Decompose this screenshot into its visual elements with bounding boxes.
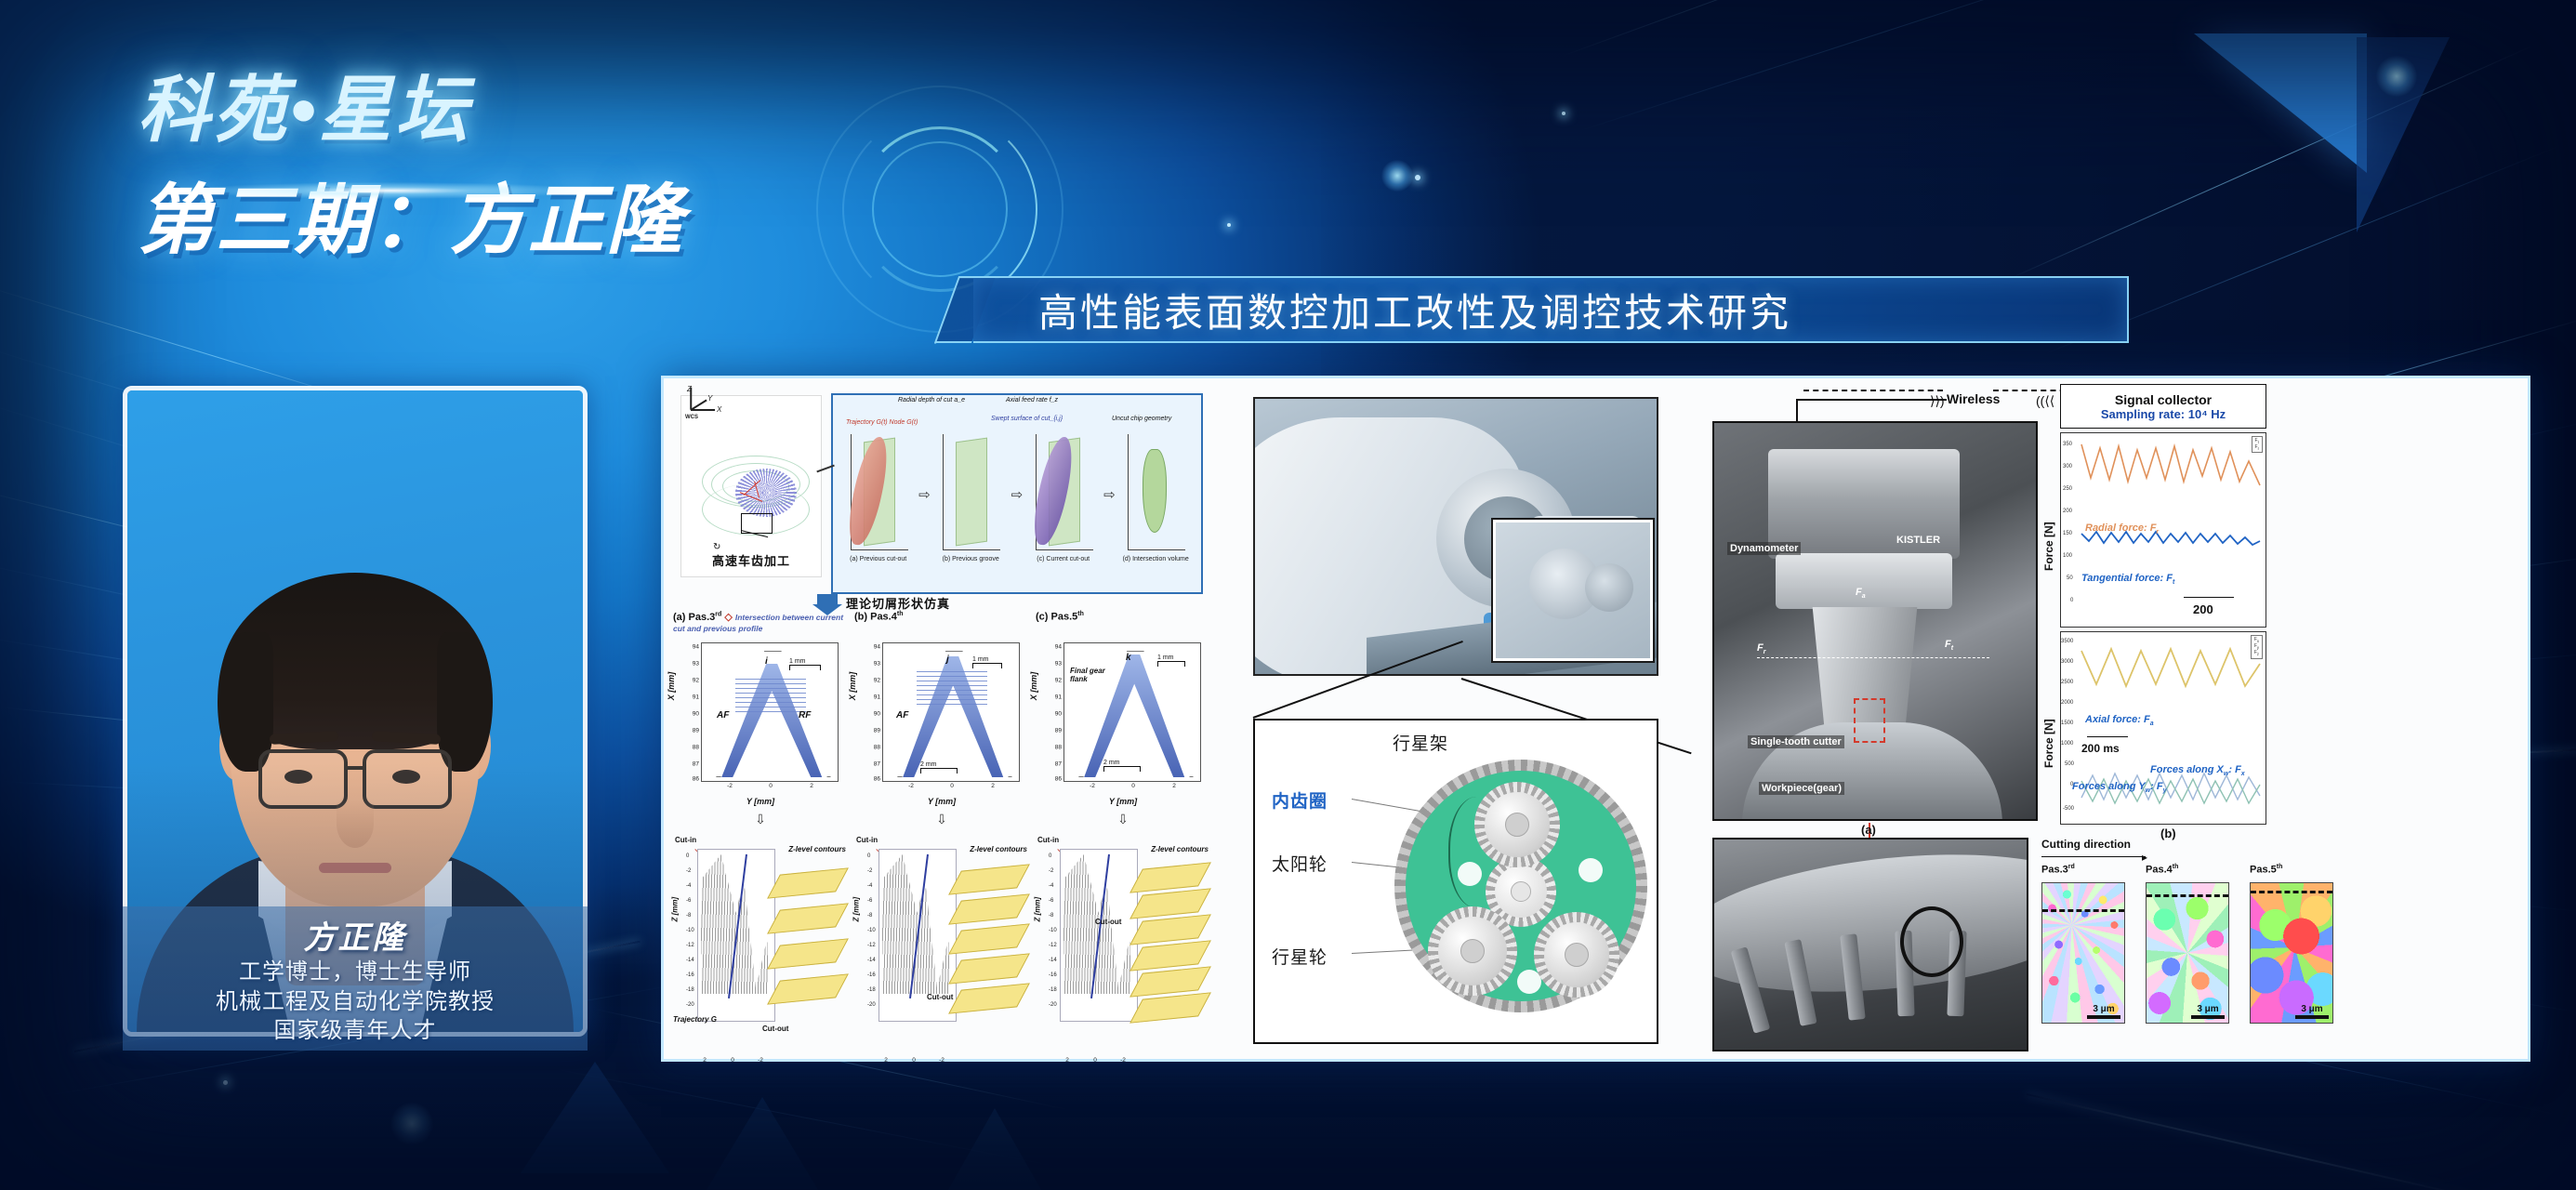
speaker-info: 方正隆 工学博士，博士生导师 机械工程及自动化学院教授 国家级青年人才 bbox=[123, 906, 588, 1051]
label-single-tooth-cutter: Single-tooth cutter bbox=[1748, 735, 1844, 748]
dynamometer-body bbox=[1776, 553, 1952, 609]
wireless-label: Wireless bbox=[1947, 391, 2000, 406]
series-label-axial: Axial force: Fa bbox=[2085, 714, 2154, 727]
inspection-circle-marker bbox=[1900, 906, 1963, 977]
chart-plot-area: 94 93 92 91 90 89 88 87 86 -2 0 2 bbox=[882, 642, 1020, 782]
label-workpiece: Workpiece(gear) bbox=[1759, 782, 1844, 795]
ebsd-map-3: 3 μm bbox=[2250, 882, 2333, 1024]
down-arrow-row: ⇩ ⇩ ⇩ bbox=[673, 812, 1210, 830]
profile-chart-c: (c) Pas.5th X [mm] 94 93 92 91 90 89 88 … bbox=[1036, 611, 1210, 806]
force-label-radial: Fr bbox=[1757, 642, 1765, 655]
speaker-name: 方正隆 bbox=[304, 912, 407, 958]
arrow-right-icon: ⇨ bbox=[1011, 486, 1024, 503]
time-scale-bar bbox=[2184, 597, 2234, 598]
force-chart-radial-tangential: Radial force: Fr Tangential force: Ft Ft… bbox=[2060, 432, 2266, 628]
carrier-hole bbox=[1579, 858, 1603, 882]
ebsd-caption-1: Pas.3rd bbox=[2041, 864, 2075, 876]
series-label-fy: Forces along Yw: Fy bbox=[2072, 781, 2167, 794]
arrow-right-icon: ⇨ bbox=[918, 486, 931, 503]
surface-plot-row: Cut-in ↘ Z [mm] 0 -2 -4 -6 -8 -10 -12 -1… bbox=[673, 832, 1210, 1055]
chart-legend: FxFyFz bbox=[2251, 635, 2263, 659]
chart-scale-2: 2 mm bbox=[920, 761, 937, 768]
label-carrier: 行星架 bbox=[1393, 730, 1448, 755]
force-label-axial: Fa bbox=[1856, 587, 1866, 600]
chip-step-caption: (b) Previous groove bbox=[931, 556, 1010, 562]
profile-chart-b: (b) Pas.4th X [mm] 94 93 92 91 90 89 88 … bbox=[854, 611, 1029, 806]
chart-label-af: AF bbox=[896, 710, 908, 721]
z-level-contours bbox=[1136, 866, 1205, 1005]
planet-gear-body bbox=[1428, 906, 1517, 996]
gear-blank-illustration bbox=[700, 431, 812, 543]
wcs-label: WCS bbox=[685, 415, 698, 420]
force-chart-y-label-2: Force [N] bbox=[2042, 719, 2055, 768]
speaker-credential-2: 机械工程及自动化学院教授 bbox=[216, 987, 495, 1017]
subtitle-banner: 高性能表面数控加工改性及调控技术研究 bbox=[973, 276, 2129, 343]
chip-step: (c) Current cut-out bbox=[1024, 425, 1103, 564]
ebsd-maps: Cutting direction ▸ Pas.3rd 3 μm Pas.4th bbox=[2041, 838, 2337, 1051]
label-z-contours: Z-level contours bbox=[788, 845, 846, 853]
series-label-fx: Forces along Xw: Fx bbox=[2150, 764, 2245, 777]
label-cut-out: Cut-out bbox=[762, 1025, 788, 1033]
chip-step-caption: (d) Intersection volume bbox=[1116, 556, 1195, 562]
force-chart-axial: Axial force: Fa 200 ms Forces along Xw: … bbox=[2060, 631, 2266, 825]
label-z-contours: Z-level contours bbox=[970, 845, 1027, 853]
chart-label-af: AF bbox=[717, 710, 729, 721]
scale-bar: 3 μm bbox=[2191, 1004, 2225, 1019]
caption-high-speed-gear-turning: 高速车齿加工 bbox=[681, 551, 821, 569]
signal-collector-box: Signal collector Sampling rate: 10⁴ Hz bbox=[2060, 384, 2266, 429]
caption-chip-shape-simulation: 理论切屑形状仿真 bbox=[846, 594, 950, 612]
label-ring-gear: 内齿圈 bbox=[1272, 787, 1328, 813]
arrow-down-icon: ⇩ bbox=[854, 812, 1029, 830]
ebsd-caption-3: Pas.5th bbox=[2250, 864, 2282, 876]
gear-turning-schematic: X Z Y WCS bbox=[680, 395, 822, 577]
chart-title: (b) Pas.4th bbox=[854, 611, 1029, 623]
label-z-contours: Z-level contours bbox=[1151, 845, 1209, 853]
machining-experiment-photo: KISTLER Dynamometer Single-tooth cutter … bbox=[1712, 421, 2038, 821]
chart-y-label: X [mm] bbox=[1029, 672, 1038, 701]
time-scale-value: 200 bbox=[2193, 602, 2213, 616]
figure-panel: X Z Y WCS bbox=[661, 376, 2530, 1062]
label-trajectory: Trajectory G bbox=[673, 1015, 717, 1024]
chart-title: (a) Pas.3rd ◇ Intersection between curre… bbox=[673, 611, 848, 634]
poster-stage: 科苑•星坛 第三期：方正隆 高性能表面数控加工改性及调控技术研究 方正隆 bbox=[0, 0, 2576, 1190]
chart-scale: 1 mm bbox=[1157, 654, 1174, 661]
brand-title: 科苑•星坛 bbox=[138, 73, 684, 149]
annot-axial-feed: Axial feed rate f_z bbox=[1006, 397, 1058, 403]
chart-plot-area: 94 93 92 91 90 89 88 87 86 -2 0 2 bbox=[701, 642, 839, 782]
chart-plot-area: 94 93 92 91 90 89 88 87 86 -2 0 2 bbox=[1063, 642, 1201, 782]
surface-z-label: Z [mm] bbox=[1034, 897, 1042, 922]
label-cut-in: Cut-in bbox=[856, 836, 878, 844]
carrier-hole bbox=[1458, 862, 1482, 886]
ebsd-map-1: 3 μm bbox=[2041, 882, 2125, 1024]
profile-chart-a: (a) Pas.3rd ◇ Intersection between curre… bbox=[673, 611, 848, 806]
chart-y-label: X [mm] bbox=[848, 672, 857, 701]
surface-plot-1: Cut-in ↘ Z [mm] 0 -2 -4 -6 -8 -10 -12 -1… bbox=[673, 832, 848, 1055]
figure-column-experiment: Wireless ⟩⟩) ((⟨⟨ Signal collector Sampl… bbox=[1696, 378, 2528, 1059]
chart-x-label: Y [mm] bbox=[673, 797, 848, 806]
label-planet-gear: 行星轮 bbox=[1272, 944, 1328, 969]
zoom-highlight-box bbox=[1493, 520, 1653, 661]
speaker-credential-1: 工学博士，博士生导师 bbox=[239, 958, 471, 987]
figure-column-application: 行星架 内齿圈 太阳轮 行星轮 bbox=[1222, 378, 1692, 1059]
force-label-tangential: Ft bbox=[1945, 639, 1953, 652]
chart-scale: 1 mm bbox=[972, 656, 989, 663]
series-label-radial: Radial force: Fr bbox=[2085, 522, 2159, 535]
chart-x-label: Y [mm] bbox=[854, 797, 1029, 806]
planet-gear-body bbox=[1534, 912, 1619, 998]
chart-legend: FtFr bbox=[2252, 436, 2263, 453]
robot-joint-photo bbox=[1253, 397, 1658, 676]
chip-geometry-simulation: Radial depth of cut a_e Axial feed rate … bbox=[831, 393, 1203, 594]
chip-step-caption: (a) Previous cut-out bbox=[839, 556, 918, 562]
episode-title: 第三期：方正隆 bbox=[138, 158, 684, 269]
chart-label-rf: RF bbox=[799, 710, 811, 721]
label-cutting-direction: Cutting direction bbox=[2041, 838, 2131, 851]
label-cut-in: Cut-in bbox=[1037, 836, 1059, 844]
arrow-down-icon: ⇩ bbox=[1036, 812, 1210, 830]
z-level-contours bbox=[773, 866, 842, 1005]
label-cut-in: Cut-in bbox=[675, 836, 696, 844]
chart-scale-2: 2 mm bbox=[1103, 760, 1120, 766]
profile-chart-row: (a) Pas.3rd ◇ Intersection between curre… bbox=[673, 611, 1210, 806]
surface-plot-2: Cut-in ↘ Z [mm] 0 -2 -4 -6 -8 -10 -12 -1… bbox=[854, 832, 1029, 1055]
chart-title: (c) Pas.5th bbox=[1036, 611, 1210, 623]
series-label-tangential: Tangential force: Ft bbox=[2081, 573, 2174, 586]
subtitle-text: 高性能表面数控加工改性及调控技术研究 bbox=[1038, 282, 1791, 338]
cut-zone-marker bbox=[1854, 698, 1885, 743]
title-glow bbox=[193, 182, 584, 199]
cutting-direction-arrow-icon bbox=[2041, 856, 2146, 857]
label-cut-out: Cut-out bbox=[927, 993, 953, 1001]
collector-rate: Sampling rate: 10⁴ Hz bbox=[2101, 407, 2226, 421]
speaker-credential-3: 国家级青年人才 bbox=[274, 1016, 437, 1046]
chart-label-i: i bbox=[765, 656, 768, 667]
label-dynamometer: Dynamometer bbox=[1727, 542, 1801, 555]
chart-label-final-flank: Final gear flank bbox=[1070, 668, 1113, 684]
planet-gear-body bbox=[1474, 782, 1560, 867]
arrow-down-icon: ⇩ bbox=[673, 812, 848, 830]
collector-title: Signal collector bbox=[2115, 392, 2212, 407]
label-sun-gear: 太阳轮 bbox=[1272, 851, 1328, 876]
gear-teeth-photo bbox=[1712, 838, 2028, 1051]
time-scale-value-2: 200 ms bbox=[2081, 742, 2120, 755]
label-cut-out: Cut-out bbox=[1095, 918, 1121, 926]
annot-radial-depth: Radial depth of cut a_e bbox=[898, 397, 965, 403]
planetary-gear-diagram: 行星架 内齿圈 太阳轮 行星轮 bbox=[1253, 719, 1658, 1044]
callout-connector bbox=[1253, 676, 1658, 719]
chart-x-label: Y [mm] bbox=[1036, 797, 1210, 806]
surface-z-label: Z [mm] bbox=[671, 897, 680, 922]
chip-step: (b) Previous groove bbox=[931, 425, 1010, 564]
title-block: 科苑•星坛 第三期：方正隆 bbox=[138, 73, 684, 269]
ebsd-caption-2: Pas.4th bbox=[2146, 864, 2178, 876]
caption-a: (a) bbox=[1861, 823, 1876, 837]
force-chart-y-label-1: Force [N] bbox=[2042, 522, 2055, 571]
chart-label-k: k bbox=[1126, 653, 1131, 663]
z-level-contours bbox=[955, 866, 1024, 1005]
gear-rim bbox=[1712, 838, 2028, 1011]
chart-label-j: j bbox=[946, 654, 949, 665]
chip-step: (d) Intersection volume bbox=[1116, 425, 1195, 564]
chip-step: (a) Previous cut-out bbox=[839, 425, 918, 564]
brand-label: KISTLER bbox=[1896, 535, 1940, 546]
figure-column-simulation: X Z Y WCS bbox=[664, 378, 1219, 1059]
reducer-gear-2 bbox=[1585, 563, 1633, 612]
chart-y-label: X [mm] bbox=[667, 672, 676, 701]
scale-bar: 3 μm bbox=[2295, 1004, 2329, 1019]
arrow-right-icon: ⇨ bbox=[1103, 486, 1116, 503]
surface-plot-3: Cut-in ↘ Z [mm] 0 -2 -4 -6 -8 -10 -12 -1… bbox=[1036, 832, 1210, 1055]
chip-step-caption: (c) Current cut-out bbox=[1024, 556, 1103, 562]
scale-bar: 3 μm bbox=[2087, 1004, 2120, 1019]
surface-z-label: Z [mm] bbox=[852, 897, 861, 922]
chart-scale: 1 mm bbox=[789, 658, 806, 665]
chip-sequence: (a) Previous cut-out ⇨ (b) Previous groo… bbox=[839, 419, 1196, 570]
force-waveform-2 bbox=[2061, 632, 2267, 826]
ebsd-map-2: 3 μm bbox=[2146, 882, 2229, 1024]
